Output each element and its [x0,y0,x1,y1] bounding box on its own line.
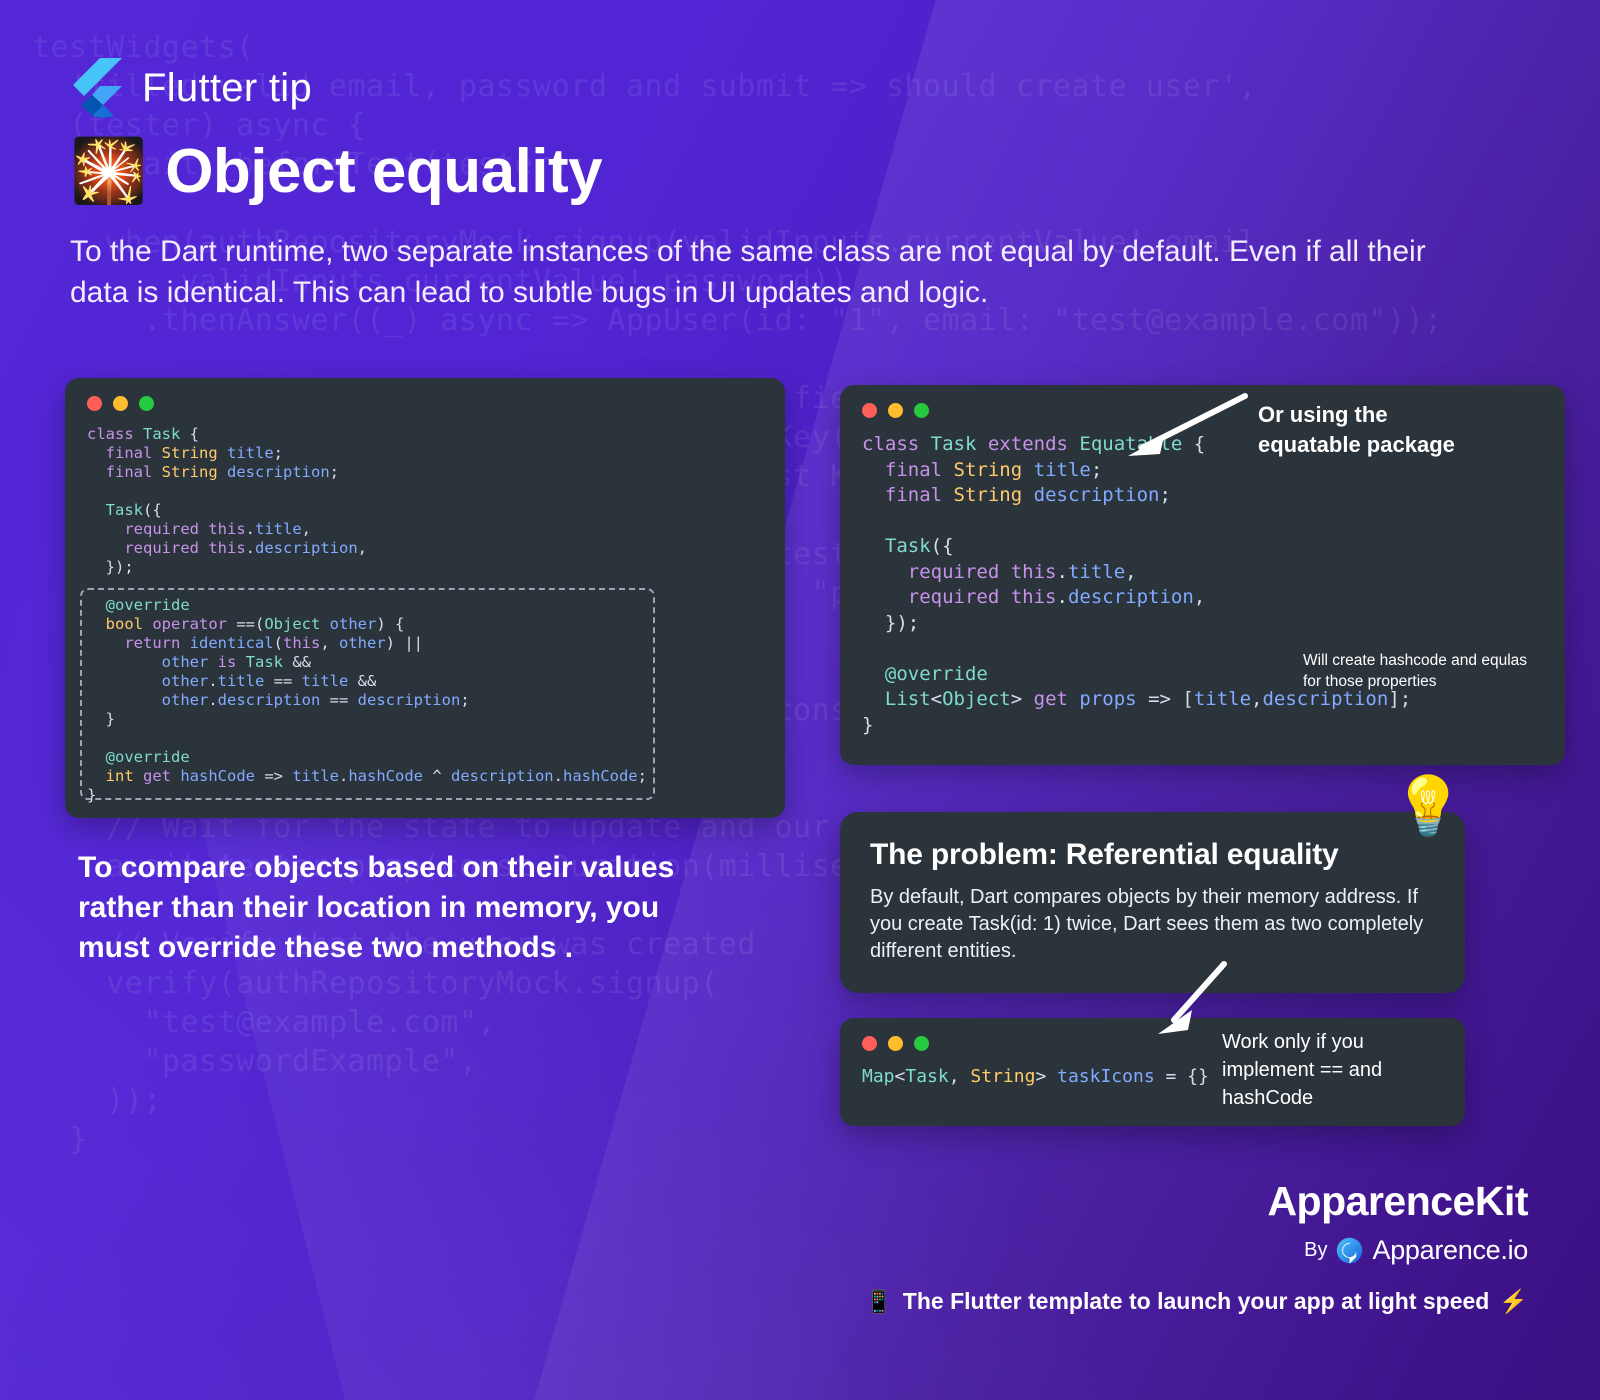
problem-card-body: By default, Dart compares objects by the… [870,884,1435,965]
arrow-to-equatable-icon [1120,392,1250,462]
apparencekit-wordmark: ApparenceKit [1267,1178,1528,1225]
by-row: By Apparence.io [1267,1235,1528,1266]
code-block-manual-equality: class Task { final String title; final S… [87,425,763,805]
close-dot-icon[interactable] [87,396,102,411]
brand-line: Flutter tip [70,58,1530,118]
lightning-bolt-icon: ⚡ [1499,1288,1528,1315]
apparence-company-name: Apparence.io [1372,1235,1528,1266]
annotation-equatable: Or using the equatable package [1258,400,1538,460]
minimize-dot-icon[interactable] [888,403,903,418]
page-subtitle: To the Dart runtime, two separate instan… [70,231,1490,313]
problem-card-title: The problem: Referential equality [870,838,1435,872]
mobile-phone-icon: 📱 [865,1289,892,1315]
brand-label: Flutter tip [142,66,312,111]
by-label: By [1304,1239,1327,1262]
arrow-to-map-icon [1150,960,1230,1040]
tagline-row: 📱 The Flutter template to launch your ap… [865,1288,1528,1315]
lightbulb-icon: 💡 [1392,778,1464,836]
close-dot-icon[interactable] [862,403,877,418]
annotation-work-only-if: Work only if you implement == and hashCo… [1222,1028,1457,1112]
minimize-dot-icon[interactable] [113,396,128,411]
maximize-dot-icon[interactable] [139,396,154,411]
maximize-dot-icon[interactable] [914,1036,929,1051]
page-header: Flutter tip 🎇 Object equality To the Dar… [70,58,1530,313]
annotation-hashcode: Will create hashcode and equlas for thos… [1303,650,1553,692]
maximize-dot-icon[interactable] [914,403,929,418]
flutter-logo-icon [70,58,122,118]
tagline-text: The Flutter template to launch your app … [903,1288,1490,1315]
window-controls [87,396,763,411]
title-row: 🎇 Object equality [70,136,1530,207]
brand-block: ApparenceKit By Apparence.io [1267,1178,1528,1266]
callout-override-methods: To compare objects based on their values… [78,848,678,968]
code-card-manual-equality: class Task { final String title; final S… [65,378,785,818]
minimize-dot-icon[interactable] [888,1036,903,1051]
page-title: Object equality [165,136,602,207]
apparence-logo-icon [1336,1237,1363,1264]
code-block-equatable: class Task extends Equatable { final Str… [862,432,1543,738]
close-dot-icon[interactable] [862,1036,877,1051]
sparkler-icon: 🎇 [70,141,147,203]
